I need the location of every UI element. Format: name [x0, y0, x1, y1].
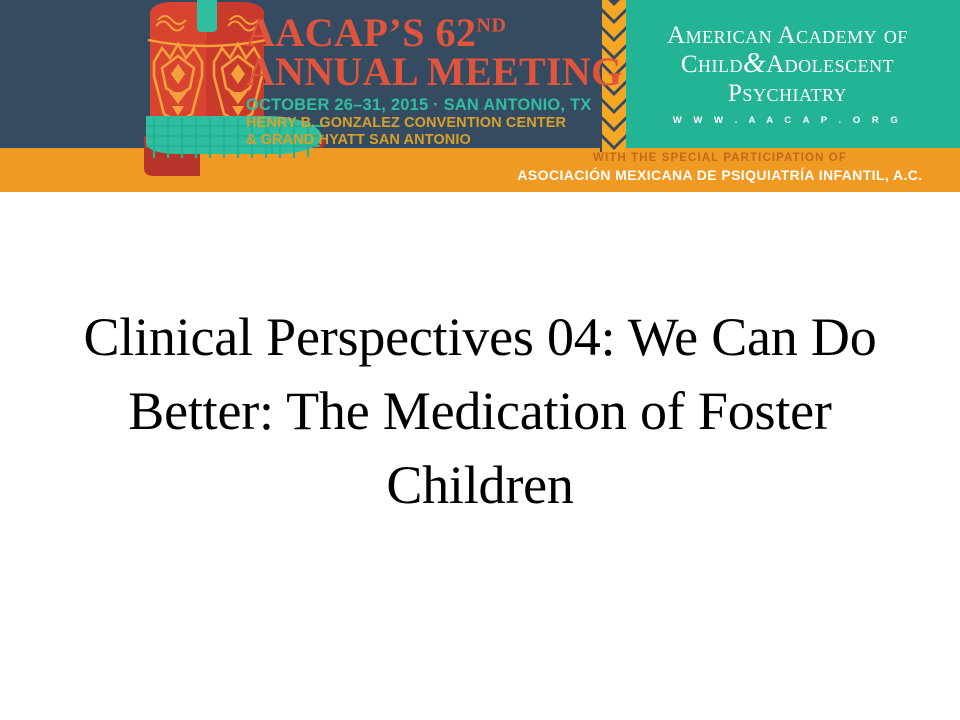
org-name-line1: American Academy of [615, 22, 960, 49]
participation-organization: ASOCIACIÓN MEXICANA DE PSIQUIATRÍA INFAN… [480, 166, 960, 184]
ampersand-icon: & [743, 47, 766, 79]
org-website-url: W W W . A A C A P . O R G [615, 115, 960, 126]
meeting-title-ordinal: ND [477, 15, 507, 37]
meeting-dates: OCTOBER 26–31, 2015 · SAN ANTONIO, TX [246, 95, 594, 115]
meeting-title-line2: ANNUAL MEETING [246, 52, 594, 92]
special-participation: WITH THE SPECIAL PARTICIPATION OF ASOCIA… [480, 150, 960, 184]
meeting-venue-line1: HENRY B. GONZALEZ CONVENTION CENTER [246, 115, 594, 132]
org-name-line3: Psychiatry [615, 79, 960, 108]
page-title: Clinical Perspectives 04: We Can Do Bett… [40, 300, 920, 522]
organization-logo: American Academy of Child&Adolescent Psy… [615, 22, 960, 126]
conference-banner: AACAP’S 62ND ANNUAL MEETING OCTOBER 26–3… [0, 0, 960, 192]
org-name-line2: Child&Adolescent [615, 49, 960, 79]
meeting-title-line1: AACAP’S 62ND [246, 14, 594, 52]
org-name-child: Child [681, 51, 743, 78]
participation-label: WITH THE SPECIAL PARTICIPATION OF [480, 150, 960, 166]
slide: AACAP’S 62ND ANNUAL MEETING OCTOBER 26–3… [0, 0, 960, 720]
meeting-info: AACAP’S 62ND ANNUAL MEETING OCTOBER 26–3… [246, 14, 594, 149]
org-name-adolescent: Adolescent [766, 51, 894, 78]
meeting-venue-line2: & GRAND HYATT SAN ANTONIO [246, 132, 594, 149]
